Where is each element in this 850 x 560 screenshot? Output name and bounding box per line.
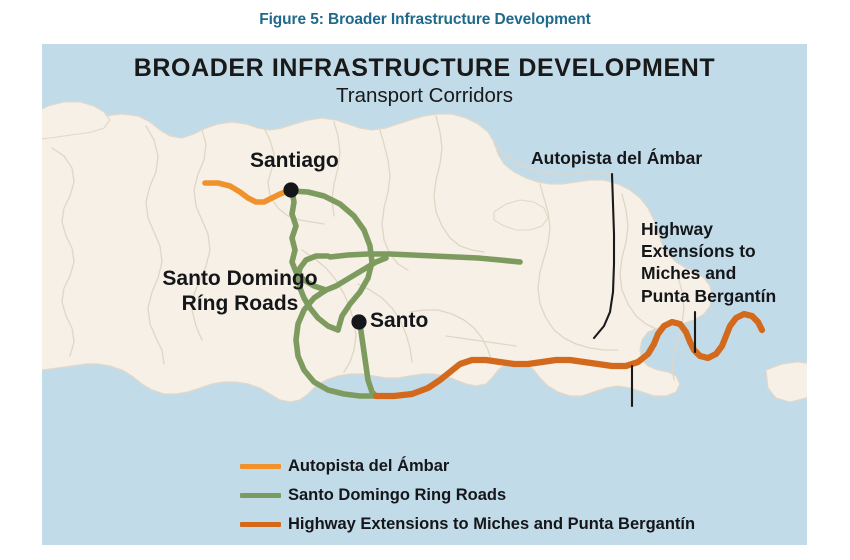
- figure-caption: Figure 5: Broader Infrastructure Develop…: [0, 11, 850, 29]
- city-dot-santiago: [283, 182, 298, 197]
- legend-item-ring-roads: Santo Domingo Ring Roads: [240, 481, 800, 510]
- land-island-saona: [766, 362, 807, 402]
- landmass-group: [42, 102, 807, 402]
- map-legend: Autopista del Ámbar Santo Domingo Ring R…: [240, 452, 800, 539]
- legend-swatch-highway-extensions: [240, 522, 281, 527]
- legend-swatch-ring-roads: [240, 493, 281, 498]
- legend-swatch-autopista: [240, 464, 281, 469]
- city-dot-santo-domingo: [351, 314, 366, 329]
- legend-item-autopista: Autopista del Ámbar: [240, 452, 800, 481]
- legend-label-autopista: Autopista del Ámbar: [288, 457, 449, 476]
- figure-page: Figure 5: Broader Infrastructure Develop…: [0, 0, 850, 560]
- legend-item-highway-extensions: Highway Extensions to Miches and Punta B…: [240, 510, 800, 539]
- map-panel: BROADER INFRASTRUCTURE DEVELOPMENT Trans…: [42, 44, 807, 545]
- legend-label-highway-extensions: Highway Extensions to Miches and Punta B…: [288, 515, 695, 534]
- legend-label-ring-roads: Santo Domingo Ring Roads: [288, 486, 506, 505]
- land-hispaniola: [42, 114, 712, 402]
